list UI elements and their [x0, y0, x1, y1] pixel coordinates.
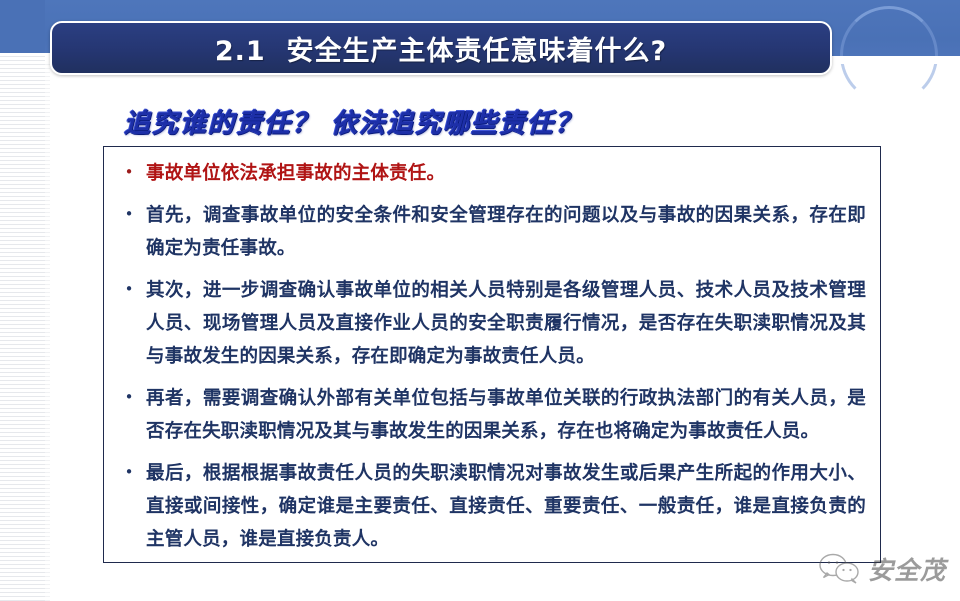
bullet-text: 首先，调查事故单位的安全条件和安全管理存在的问题以及与事故的因果关系，存在即确定…: [146, 199, 866, 265]
arc-decoration-icon: [840, 6, 938, 104]
slide-subtitle: 追究谁的责任？ 依法追究哪些责任？: [124, 103, 583, 140]
bullet-dot-icon: •: [112, 274, 146, 304]
bullet-dot-icon: •: [112, 199, 146, 229]
slide-title-bar: 2.1 安全生产主体责任意味着什么?: [50, 21, 832, 75]
bullet-text: 事故单位依法承担事故的主体责任。: [146, 157, 866, 190]
list-item: • 其次，进一步调查确认事故单位的相关人员特别是各级管理人员、技术人员及技术管理…: [112, 274, 866, 373]
list-item: • 最后，根据根据事故责任人员的失职渎职情况对事故发生或后果产生所起的作用大小、…: [112, 457, 866, 556]
list-item: • 再者，需要调查确认外部有关单位包括与事故单位关联的行政执法部门的有关人员，是…: [112, 382, 866, 448]
bullet-dot-icon: •: [112, 157, 146, 187]
page-title: 2.1 安全生产主体责任意味着什么?: [215, 29, 667, 68]
watermark: 安全茂: [818, 551, 946, 587]
bullet-dot-icon: •: [112, 382, 146, 412]
bullet-text: 再者，需要调查确认外部有关单位包括与事故单位关联的行政执法部门的有关人员，是否存…: [146, 382, 866, 448]
content-box: • 事故单位依法承担事故的主体责任。 • 首先，调查事故单位的安全条件和安全管理…: [103, 146, 881, 563]
bullet-dot-icon: •: [112, 457, 146, 487]
left-blue-block: [0, 0, 45, 53]
list-item: • 首先，调查事故单位的安全条件和安全管理存在的问题以及与事故的因果关系，存在即…: [112, 199, 866, 265]
watermark-text: 安全茂: [868, 551, 946, 587]
slide: 2.1 安全生产主体责任意味着什么? 追究谁的责任？ 依法追究哪些责任？ • 事…: [0, 0, 960, 601]
left-stripe-texture-secondary: [45, 53, 50, 601]
left-stripe-texture: [0, 53, 45, 601]
bullet-text: 最后，根据根据事故责任人员的失职渎职情况对事故发生或后果产生所起的作用大小、直接…: [146, 457, 866, 556]
bullet-text: 其次，进一步调查确认事故单位的相关人员特别是各级管理人员、技术人员及技术管理人员…: [146, 274, 866, 373]
list-item: • 事故单位依法承担事故的主体责任。: [112, 157, 866, 190]
wechat-icon: [818, 552, 862, 586]
